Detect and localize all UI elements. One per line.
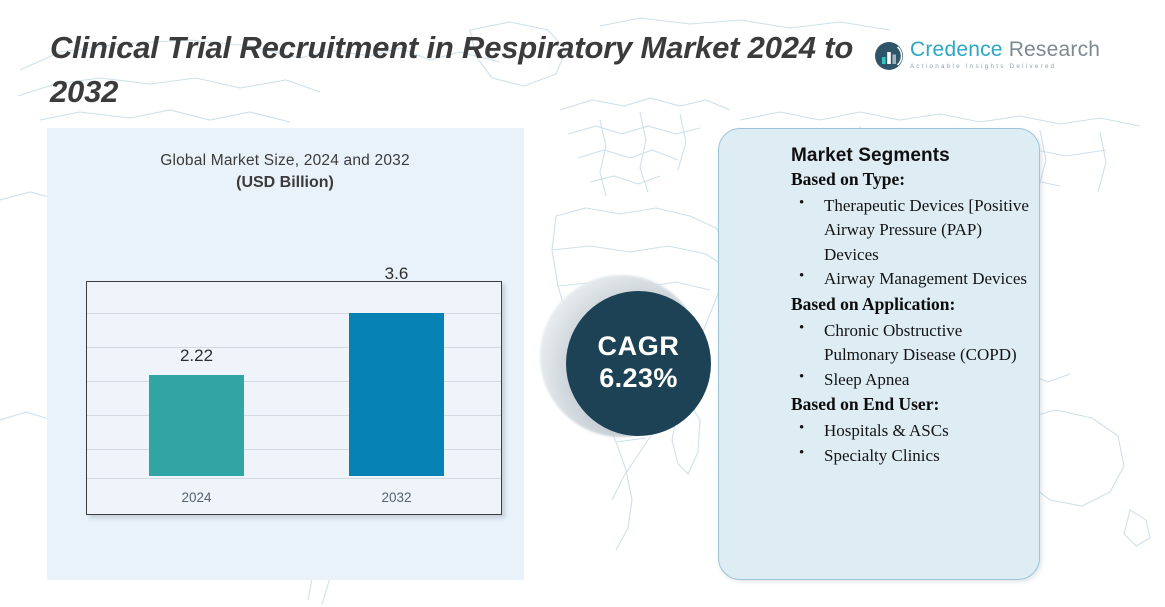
chart-title: Global Market Size, 2024 and 2032 (70, 152, 500, 170)
logo-brand-secondary: Research (1003, 38, 1101, 61)
list-item: Hospitals & ASCs (791, 419, 1036, 443)
chart-subtitle: (USD Billion) (70, 174, 500, 192)
bar-category-2024: 2024 (149, 490, 244, 505)
chart-caption: Global Market Size, 2024 and 2032 (USD B… (70, 152, 500, 192)
logo-wordmark: Credence Research Actionable Insights De… (910, 38, 1060, 70)
market-segments-panel: Market Segments Based on Type: Therapeut… (718, 128, 1040, 580)
cagr-badge: CAGR 6.23% (566, 291, 711, 436)
cagr-value: 6.23% (599, 362, 678, 394)
segment-list-application: Chronic Obstructive Pulmonary Disease (C… (791, 319, 1036, 392)
list-item: Therapeutic Devices [Positive Airway Pre… (791, 194, 1036, 267)
bar-chart-circle-icon (874, 41, 904, 71)
bar-category-2032: 2032 (349, 490, 444, 505)
bar-2032 (349, 313, 444, 476)
infographic-canvas: Clinical Trial Recruitment in Respirator… (0, 0, 1165, 607)
gridline (87, 478, 501, 479)
segment-heading-type: Based on Type: (791, 169, 1036, 190)
bar-chart-plot: 2.22 3.6 2024 2032 (86, 281, 502, 515)
bar-2024 (149, 375, 244, 476)
list-item: Specialty Clinics (791, 444, 1036, 468)
bar-value-2024: 2.22 (149, 346, 244, 366)
page-title: Clinical Trial Recruitment in Respirator… (50, 26, 880, 114)
bar-value-2032: 3.6 (349, 264, 444, 284)
list-item: Airway Management Devices (791, 267, 1036, 291)
market-segments-title: Market Segments (791, 145, 1036, 167)
list-item: Sleep Apnea (791, 368, 1036, 392)
segment-heading-application: Based on Application: (791, 294, 1036, 315)
segment-list-type: Therapeutic Devices [Positive Airway Pre… (791, 194, 1036, 292)
list-item: Chronic Obstructive Pulmonary Disease (C… (791, 319, 1036, 368)
logo-brand-primary: Credence (910, 38, 1003, 61)
market-segments-content: Market Segments Based on Type: Therapeut… (791, 145, 1036, 470)
logo-tagline: Actionable Insights Delivered (910, 63, 1060, 70)
segment-heading-end-user: Based on End User: (791, 394, 1036, 415)
segment-list-end-user: Hospitals & ASCs Specialty Clinics (791, 419, 1036, 468)
cagr-label: CAGR (598, 332, 680, 362)
brand-logo: Credence Research Actionable Insights De… (874, 38, 1060, 76)
